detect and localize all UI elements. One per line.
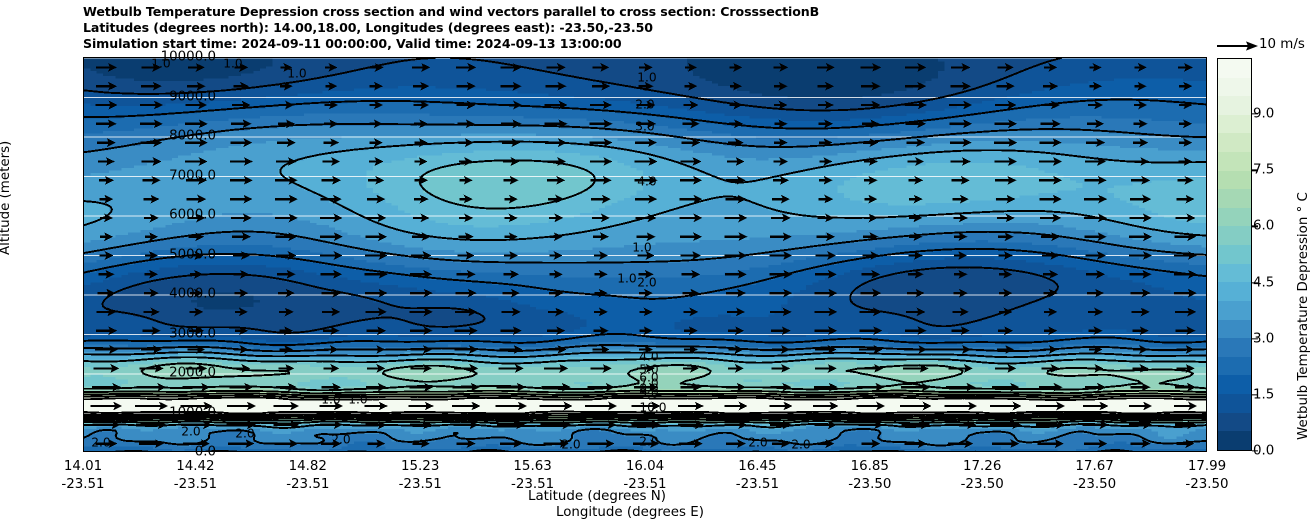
colorbar-band bbox=[1218, 264, 1251, 283]
x-axis-tick-label: 17.67-23.50 bbox=[1073, 458, 1116, 494]
contour-label: 2.0 bbox=[748, 435, 767, 449]
x-axis-tick-mark bbox=[308, 451, 309, 452]
colorbar-tick-mark bbox=[1252, 113, 1258, 114]
y-axis-tick-mark bbox=[83, 294, 84, 295]
colorbar-tick-mark bbox=[1252, 394, 1258, 395]
x-tick-lat: 16.45 bbox=[738, 459, 776, 474]
x-axis-tick-label: 14.01-23.51 bbox=[61, 458, 104, 494]
y-axis-tick-mark bbox=[83, 176, 84, 177]
colorbar-band bbox=[1218, 394, 1251, 413]
y-axis-tick-label: 8000.0 bbox=[169, 129, 216, 144]
x-axis-tick-label: 15.63-23.51 bbox=[511, 458, 554, 494]
x-axis-tick-label: 16.85-23.50 bbox=[848, 458, 891, 494]
contour-label: 1.0 bbox=[321, 392, 340, 406]
cross-section-plot[interactable]: 1.01.01.01.02.03.04.01.01.02.04.05.06.07… bbox=[83, 57, 1207, 452]
contour-label: 1.0 bbox=[223, 58, 242, 70]
x-axis-tick-mark bbox=[983, 451, 984, 452]
title-line-3: Simulation start time: 2024-09-11 00:00:… bbox=[83, 36, 1203, 52]
y-axis-tick-mark bbox=[83, 334, 84, 335]
x-axis-tick-mark bbox=[645, 451, 646, 452]
wind-vector-key-label: 10 m/s bbox=[1259, 37, 1305, 52]
page-title: Wetbulb Temperature Depression cross sec… bbox=[83, 4, 1203, 53]
colorbar-tick-mark bbox=[1252, 226, 1258, 227]
y-axis-tick-label: 2000.0 bbox=[169, 366, 216, 381]
x-axis-tick-label: 16.45-23.51 bbox=[736, 458, 779, 494]
contour-label: 4.0 bbox=[637, 174, 656, 188]
x-tick-lat: 14.01 bbox=[64, 459, 102, 474]
x-axis-tick-label: 14.42-23.51 bbox=[174, 458, 217, 494]
contour-label: 1.0 bbox=[287, 66, 306, 80]
y-axis-tick-mark bbox=[83, 215, 84, 216]
colorbar-tick-mark bbox=[1252, 170, 1258, 171]
contour-label: 1.0 bbox=[632, 240, 651, 254]
x-tick-lat: 17.26 bbox=[963, 459, 1001, 474]
contour-label: 1.0 bbox=[617, 271, 636, 285]
contour-label: 10.0 bbox=[639, 400, 666, 414]
colorbar-band bbox=[1218, 208, 1251, 227]
contour-label: 1.0 bbox=[637, 70, 656, 84]
x-tick-lat: 17.67 bbox=[1075, 459, 1113, 474]
contour-label: 2.0 bbox=[181, 424, 200, 438]
contour-label: 2.0 bbox=[637, 275, 656, 289]
y-axis-tick-mark bbox=[83, 57, 84, 58]
x-tick-lat: 14.82 bbox=[289, 459, 327, 474]
x-tick-lon: -23.51 bbox=[623, 476, 666, 494]
y-axis-tick-mark bbox=[83, 97, 84, 98]
title-line-1: Wetbulb Temperature Depression cross sec… bbox=[83, 4, 1203, 20]
x-tick-lat: 14.42 bbox=[176, 459, 214, 474]
contour-label: 9.0 bbox=[639, 386, 658, 400]
x-tick-lon: -23.50 bbox=[961, 476, 1004, 494]
x-tick-lon: -23.50 bbox=[1073, 476, 1116, 494]
y-axis-tick-label: 5000.0 bbox=[169, 247, 216, 262]
title-line-2: Latitudes (degrees north): 14.00,18.00, … bbox=[83, 20, 1203, 36]
colorbar-band bbox=[1218, 320, 1251, 339]
x-axis-tick-mark bbox=[1095, 451, 1096, 452]
x-axis-label-longitude: Longitude (degrees E) bbox=[556, 505, 704, 520]
colorbar-band bbox=[1218, 375, 1251, 394]
x-axis-tick-mark bbox=[758, 451, 759, 452]
contour-label: 2.0 bbox=[639, 434, 658, 448]
x-tick-lon: -23.50 bbox=[848, 476, 891, 494]
colorbar-band bbox=[1218, 431, 1251, 450]
contour-label: 2.0 bbox=[331, 432, 350, 446]
x-axis-tick-mark bbox=[870, 451, 871, 452]
y-axis-tick-label: 7000.0 bbox=[169, 168, 216, 183]
contour-label: 2.0 bbox=[235, 426, 254, 440]
x-tick-lon: -23.51 bbox=[736, 476, 779, 494]
x-tick-lat: 15.23 bbox=[401, 459, 439, 474]
x-axis-tick-label: 17.26-23.50 bbox=[961, 458, 1004, 494]
colorbar-band bbox=[1218, 301, 1251, 320]
y-axis-tick-mark bbox=[83, 373, 84, 374]
colorbar-tick-mark bbox=[1252, 282, 1258, 283]
x-axis-tick-label: 16.04-23.51 bbox=[623, 458, 666, 494]
y-axis-tick-label: 6000.0 bbox=[169, 208, 216, 223]
y-axis-tick-mark bbox=[83, 413, 84, 414]
y-axis-tick-label: 4000.0 bbox=[169, 287, 216, 302]
colorbar-band bbox=[1218, 282, 1251, 301]
colorbar-band bbox=[1218, 133, 1251, 152]
colorbar-band bbox=[1218, 226, 1251, 245]
contour-label: 1.0 bbox=[348, 392, 367, 406]
colorbar-band bbox=[1218, 115, 1251, 134]
colorbar-band bbox=[1218, 413, 1251, 432]
y-axis-tick-label: 9000.0 bbox=[169, 89, 216, 104]
contour-label: 2.0 bbox=[635, 97, 654, 111]
colorbar-label: Wetbulb Temperature Depression ° C bbox=[1296, 192, 1311, 440]
colorbar-band bbox=[1218, 59, 1251, 78]
x-tick-lat: 16.04 bbox=[626, 459, 664, 474]
x-tick-lon: -23.51 bbox=[399, 476, 442, 494]
plot-canvas: 1.01.01.01.02.03.04.01.01.02.04.05.06.07… bbox=[84, 58, 1206, 451]
colorbar-band bbox=[1218, 152, 1251, 171]
x-tick-lon: -23.51 bbox=[511, 476, 554, 494]
contour-label: 4.0 bbox=[639, 349, 658, 363]
contour-label: 3.0 bbox=[635, 119, 654, 133]
x-axis-tick-label: 14.82-23.51 bbox=[286, 458, 329, 494]
colorbar-band bbox=[1218, 96, 1251, 115]
y-axis-tick-mark bbox=[83, 255, 84, 256]
x-tick-lat: 16.85 bbox=[851, 459, 889, 474]
colorbar-tick-mark bbox=[1252, 338, 1258, 339]
x-axis-tick-label: 15.23-23.51 bbox=[399, 458, 442, 494]
y-axis-tick-label: 3000.0 bbox=[169, 326, 216, 341]
x-tick-lon: -23.51 bbox=[286, 476, 329, 494]
colorbar-band bbox=[1218, 338, 1251, 357]
x-axis-tick-mark bbox=[84, 451, 85, 452]
x-axis-tick-mark bbox=[421, 451, 422, 452]
colorbar-band bbox=[1218, 189, 1251, 208]
x-tick-lon: -23.51 bbox=[174, 476, 217, 494]
colorbar-band bbox=[1218, 171, 1251, 190]
colorbar-band bbox=[1218, 357, 1251, 376]
colorbar-band bbox=[1218, 245, 1251, 264]
x-axis-tick-mark bbox=[533, 451, 534, 452]
x-tick-lat: 17.99 bbox=[1188, 459, 1226, 474]
y-axis-tick-mark bbox=[83, 136, 84, 137]
colorbar-band bbox=[1218, 78, 1251, 97]
x-tick-lon: -23.51 bbox=[61, 476, 104, 494]
y-axis-tick-label: 10000.0 bbox=[161, 50, 216, 65]
contour-label: 2.0 bbox=[561, 437, 580, 451]
contour-label: 2.0 bbox=[791, 437, 810, 451]
x-axis-tick-label: 17.99-23.50 bbox=[1185, 458, 1228, 494]
contour-label: 2.0 bbox=[91, 435, 110, 449]
y-axis-tick-label: 1000.0 bbox=[169, 405, 216, 420]
y-axis-label: Altitude (meters) bbox=[0, 141, 13, 255]
x-tick-lat: 15.63 bbox=[513, 459, 551, 474]
colorbar[interactable] bbox=[1217, 58, 1252, 451]
colorbar-tick-mark bbox=[1252, 450, 1258, 451]
x-tick-lon: -23.50 bbox=[1185, 476, 1228, 494]
